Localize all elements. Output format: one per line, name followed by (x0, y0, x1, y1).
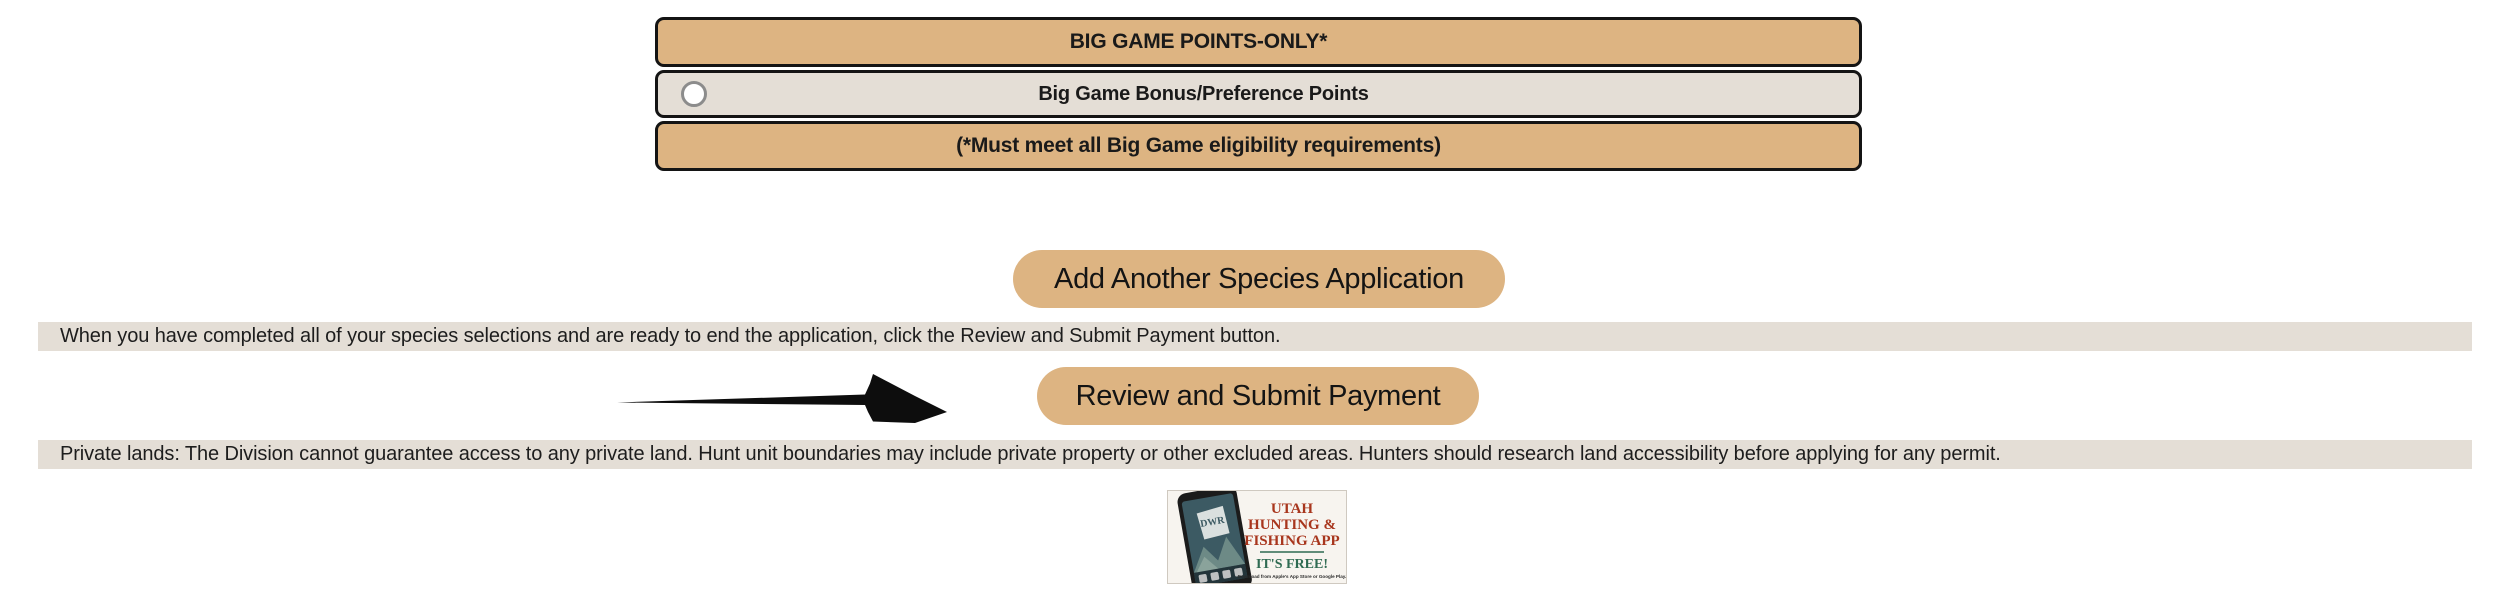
species-group-footer-label: (*Must meet all Big Game eligibility req… (658, 134, 1859, 158)
species-group-header: BIG GAME POINTS-ONLY* (655, 17, 1862, 67)
species-group-header-label: BIG GAME POINTS-ONLY* (658, 30, 1859, 54)
banner-line-2: HUNTING & (1248, 517, 1336, 533)
review-and-submit-payment-button[interactable]: Review and Submit Payment (1037, 367, 1479, 425)
completion-instructions-bar: When you have completed all of your spec… (38, 322, 2472, 351)
species-application-group: BIG GAME POINTS-ONLY* Big Game Bonus/Pre… (655, 17, 1862, 171)
add-another-species-application-button[interactable]: Add Another Species Application (1013, 250, 1505, 308)
utah-hunting-fishing-app-banner[interactable]: DWR UTAH HUNTING & FISHING APP IT'S FREE… (1167, 490, 1347, 584)
banner-line-5: Download from Apple's App Store or Googl… (1238, 574, 1346, 579)
banner-line-1: UTAH (1271, 501, 1314, 517)
private-lands-notice-bar: Private lands: The Division cannot guara… (38, 440, 2472, 469)
species-option-row[interactable]: Big Game Bonus/Preference Points (655, 70, 1862, 118)
big-game-bonus-points-radio[interactable] (681, 81, 707, 107)
right-arrow-icon (615, 372, 1035, 424)
banner-line-3: FISHING APP (1244, 533, 1339, 549)
species-option-label: Big Game Bonus/Preference Points (658, 83, 1859, 106)
species-group-footer: (*Must meet all Big Game eligibility req… (655, 121, 1862, 171)
banner-line-4: IT'S FREE! (1256, 557, 1328, 572)
